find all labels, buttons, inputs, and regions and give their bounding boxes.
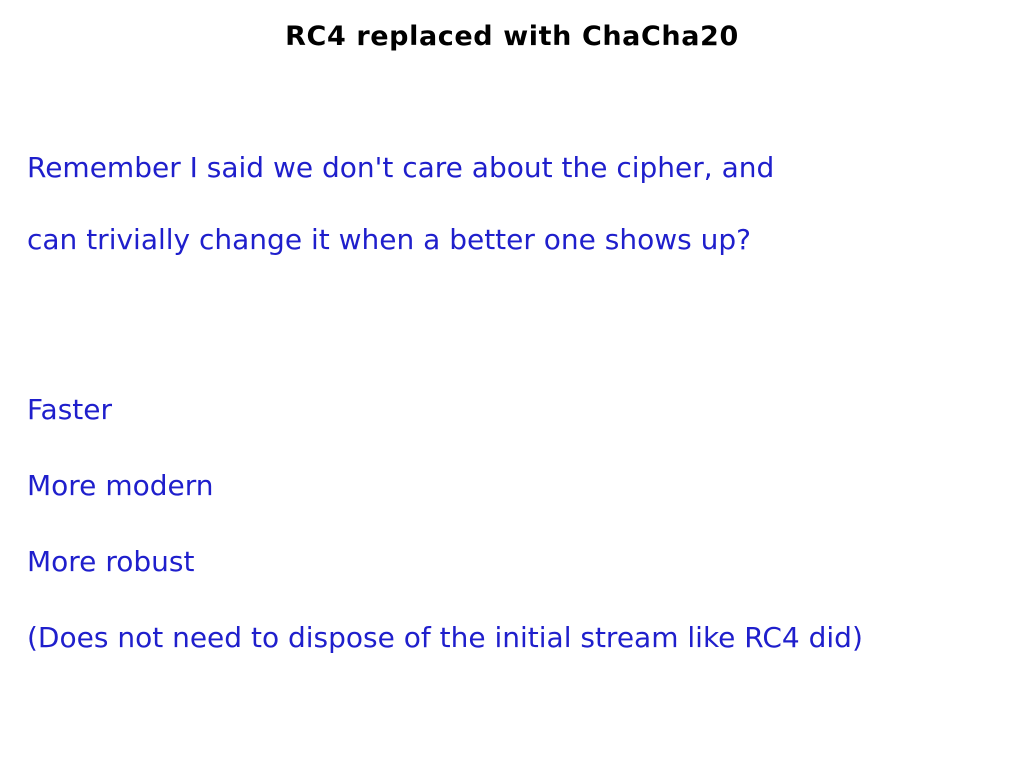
presentation-slide: RC4 replaced with ChaCha20 Remember I sa… xyxy=(0,0,1024,768)
intro-paragraph: Remember I said we don't care about the … xyxy=(27,114,987,294)
spacer-after-intro xyxy=(27,294,987,392)
bullet-item-more-robust: More robust xyxy=(27,544,987,580)
bullet-item-note: (Does not need to dispose of the initial… xyxy=(27,620,987,656)
bullet-item-faster: Faster xyxy=(27,392,987,428)
slide-title: RC4 replaced with ChaCha20 xyxy=(0,22,1024,52)
spacer-2 xyxy=(27,504,987,544)
intro-line-2: can trivially change it when a better on… xyxy=(27,222,987,258)
bullet-item-more-modern: More modern xyxy=(27,468,987,504)
slide-body: Remember I said we don't care about the … xyxy=(27,114,987,656)
spacer-3 xyxy=(27,580,987,620)
spacer-1 xyxy=(27,428,987,468)
intro-line-1: Remember I said we don't care about the … xyxy=(27,150,987,186)
